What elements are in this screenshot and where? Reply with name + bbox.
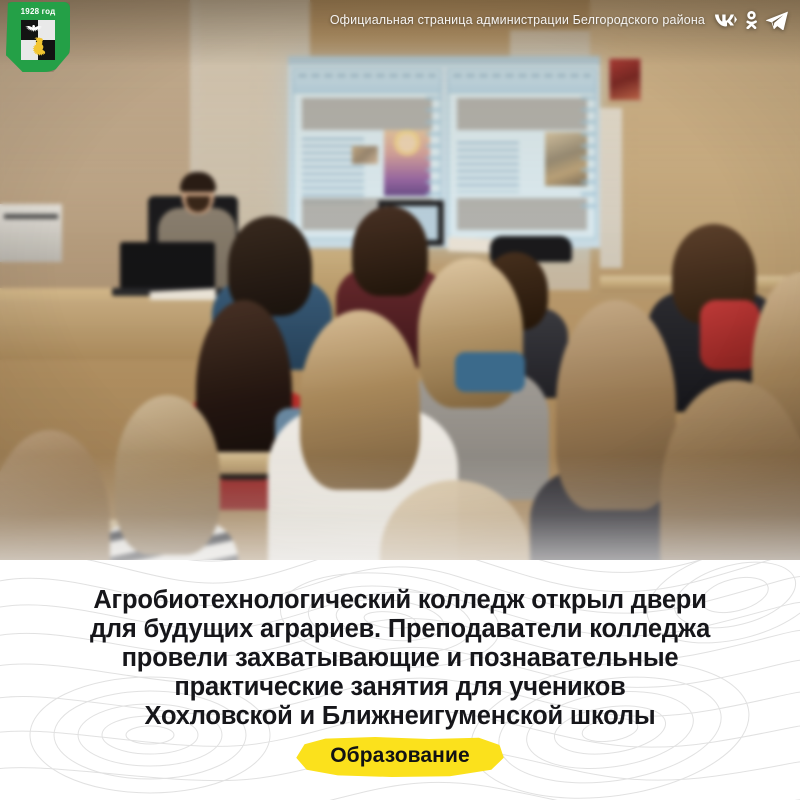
- caption-line: провели захватывающие и познавательные: [40, 644, 760, 673]
- social-links: [715, 11, 788, 30]
- caption-line: для будущих аграриев. Преподаватели колл…: [40, 615, 760, 644]
- eagle-icon: [25, 23, 42, 34]
- lion-icon: [30, 37, 47, 57]
- header-bar: Официальная страница администрации Белго…: [0, 0, 800, 40]
- vk-icon[interactable]: [715, 13, 737, 28]
- caption-line: Агробиотехнологический колледж открыл дв…: [40, 586, 760, 615]
- category-badge-label: Образование: [330, 744, 470, 767]
- logo-year-label: 1928 год: [6, 7, 70, 16]
- telegram-icon[interactable]: [766, 11, 788, 30]
- caption-text: Агробиотехнологический колледж открыл дв…: [40, 586, 760, 731]
- ok-icon[interactable]: [745, 11, 758, 29]
- official-page-label: Официальная страница администрации Белго…: [330, 13, 705, 27]
- classroom-photo: [0, 0, 800, 620]
- district-logo[interactable]: 1928 год: [6, 2, 70, 72]
- post-card: Официальная страница администрации Белго…: [0, 0, 800, 800]
- caption-line: практические занятия для учеников: [40, 673, 760, 702]
- category-badge-wrapper: Образование: [0, 737, 800, 777]
- caption-line: Хохловской и Ближнеигуменской школы: [40, 702, 760, 731]
- category-badge[interactable]: Образование: [296, 737, 504, 777]
- coat-of-arms: [21, 20, 55, 60]
- caption-card: Агробиотехнологический колледж открыл дв…: [0, 560, 800, 800]
